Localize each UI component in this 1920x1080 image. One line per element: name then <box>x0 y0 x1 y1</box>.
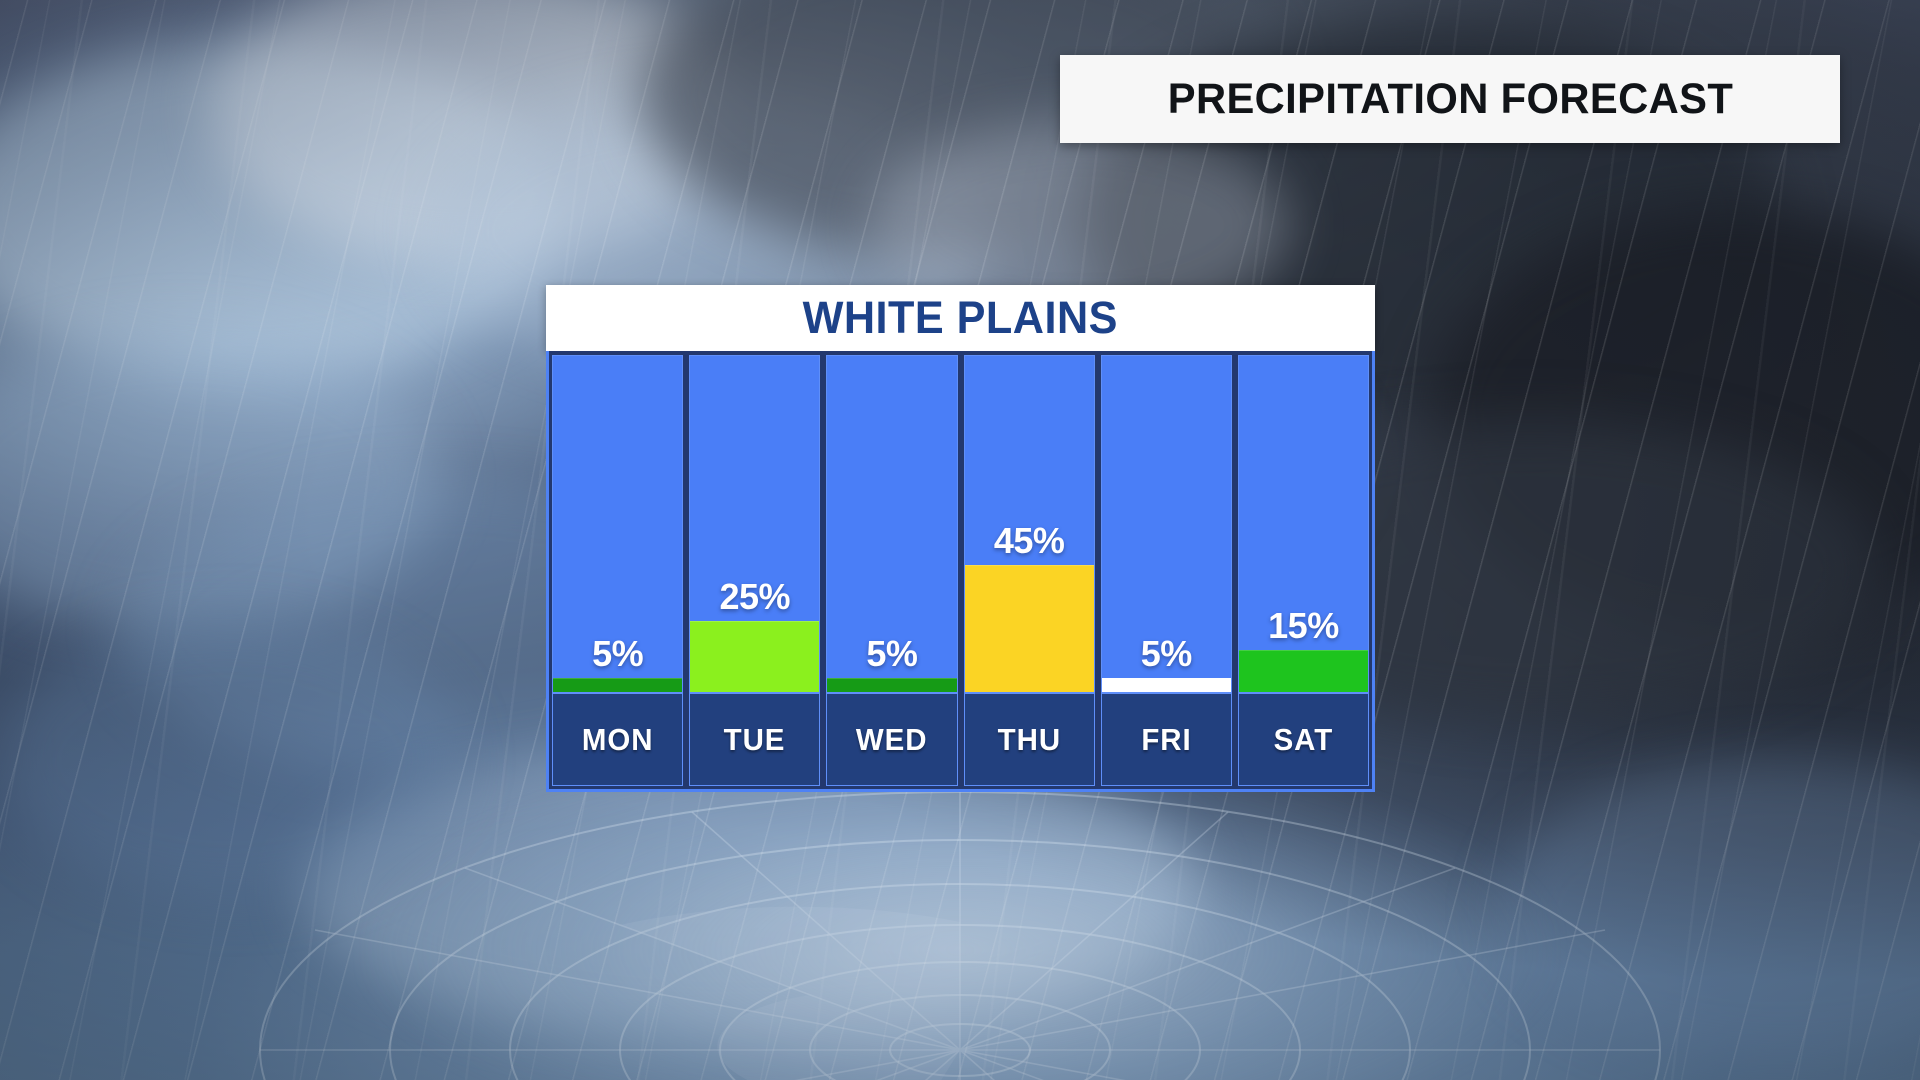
panel-header: WHITE PLAINS <box>546 285 1375 351</box>
day-label: WED <box>856 722 928 758</box>
precip-bar <box>690 621 819 692</box>
day-label-band: SAT <box>1239 692 1368 785</box>
precipitation-bar-chart: 5%MON25%TUE5%WED45%THU5%FRI15%SAT <box>546 351 1375 792</box>
precip-percent-label: 5% <box>1102 636 1231 672</box>
precip-bar <box>827 678 956 692</box>
forecast-panel: WHITE PLAINS 5%MON25%TUE5%WED45%THU5%FRI… <box>546 285 1375 792</box>
day-label: FRI <box>1141 722 1191 758</box>
day-label: THU <box>997 722 1060 758</box>
precip-percent-label: 5% <box>553 636 682 672</box>
day-column-fri[interactable]: 5%FRI <box>1101 355 1232 786</box>
day-column-thu[interactable]: 45%THU <box>964 355 1095 786</box>
city-title: WHITE PLAINS <box>803 292 1118 344</box>
precip-bar <box>1239 650 1368 692</box>
precip-bar <box>553 678 682 692</box>
day-label: TUE <box>724 722 786 758</box>
day-label-band: WED <box>827 692 956 785</box>
day-label: MON <box>582 722 654 758</box>
day-label: SAT <box>1274 722 1334 758</box>
day-label-band: TUE <box>690 692 819 785</box>
day-label-band: MON <box>553 692 682 785</box>
precip-bar <box>1102 678 1231 692</box>
day-column-mon[interactable]: 5%MON <box>552 355 683 786</box>
bar-plot-area: 5% <box>1102 356 1231 692</box>
precip-percent-label: 45% <box>965 523 1094 559</box>
precip-percent-label: 5% <box>827 636 956 672</box>
day-column-sat[interactable]: 15%SAT <box>1238 355 1369 786</box>
precip-percent-label: 15% <box>1239 608 1368 644</box>
bar-plot-area: 15% <box>1239 356 1368 692</box>
bar-plot-area: 5% <box>553 356 682 692</box>
day-column-wed[interactable]: 5%WED <box>826 355 957 786</box>
bar-plot-area: 5% <box>827 356 956 692</box>
bar-plot-area: 45% <box>965 356 1094 692</box>
precipitation-forecast-banner: PRECIPITATION FORECAST <box>1060 55 1840 143</box>
day-label-band: THU <box>965 692 1094 785</box>
precip-bar <box>965 565 1094 692</box>
day-label-band: FRI <box>1102 692 1231 785</box>
banner-title-text: PRECIPITATION FORECAST <box>1167 75 1732 124</box>
day-column-tue[interactable]: 25%TUE <box>689 355 820 786</box>
precip-percent-label: 25% <box>690 579 819 615</box>
bar-plot-area: 25% <box>690 356 819 692</box>
